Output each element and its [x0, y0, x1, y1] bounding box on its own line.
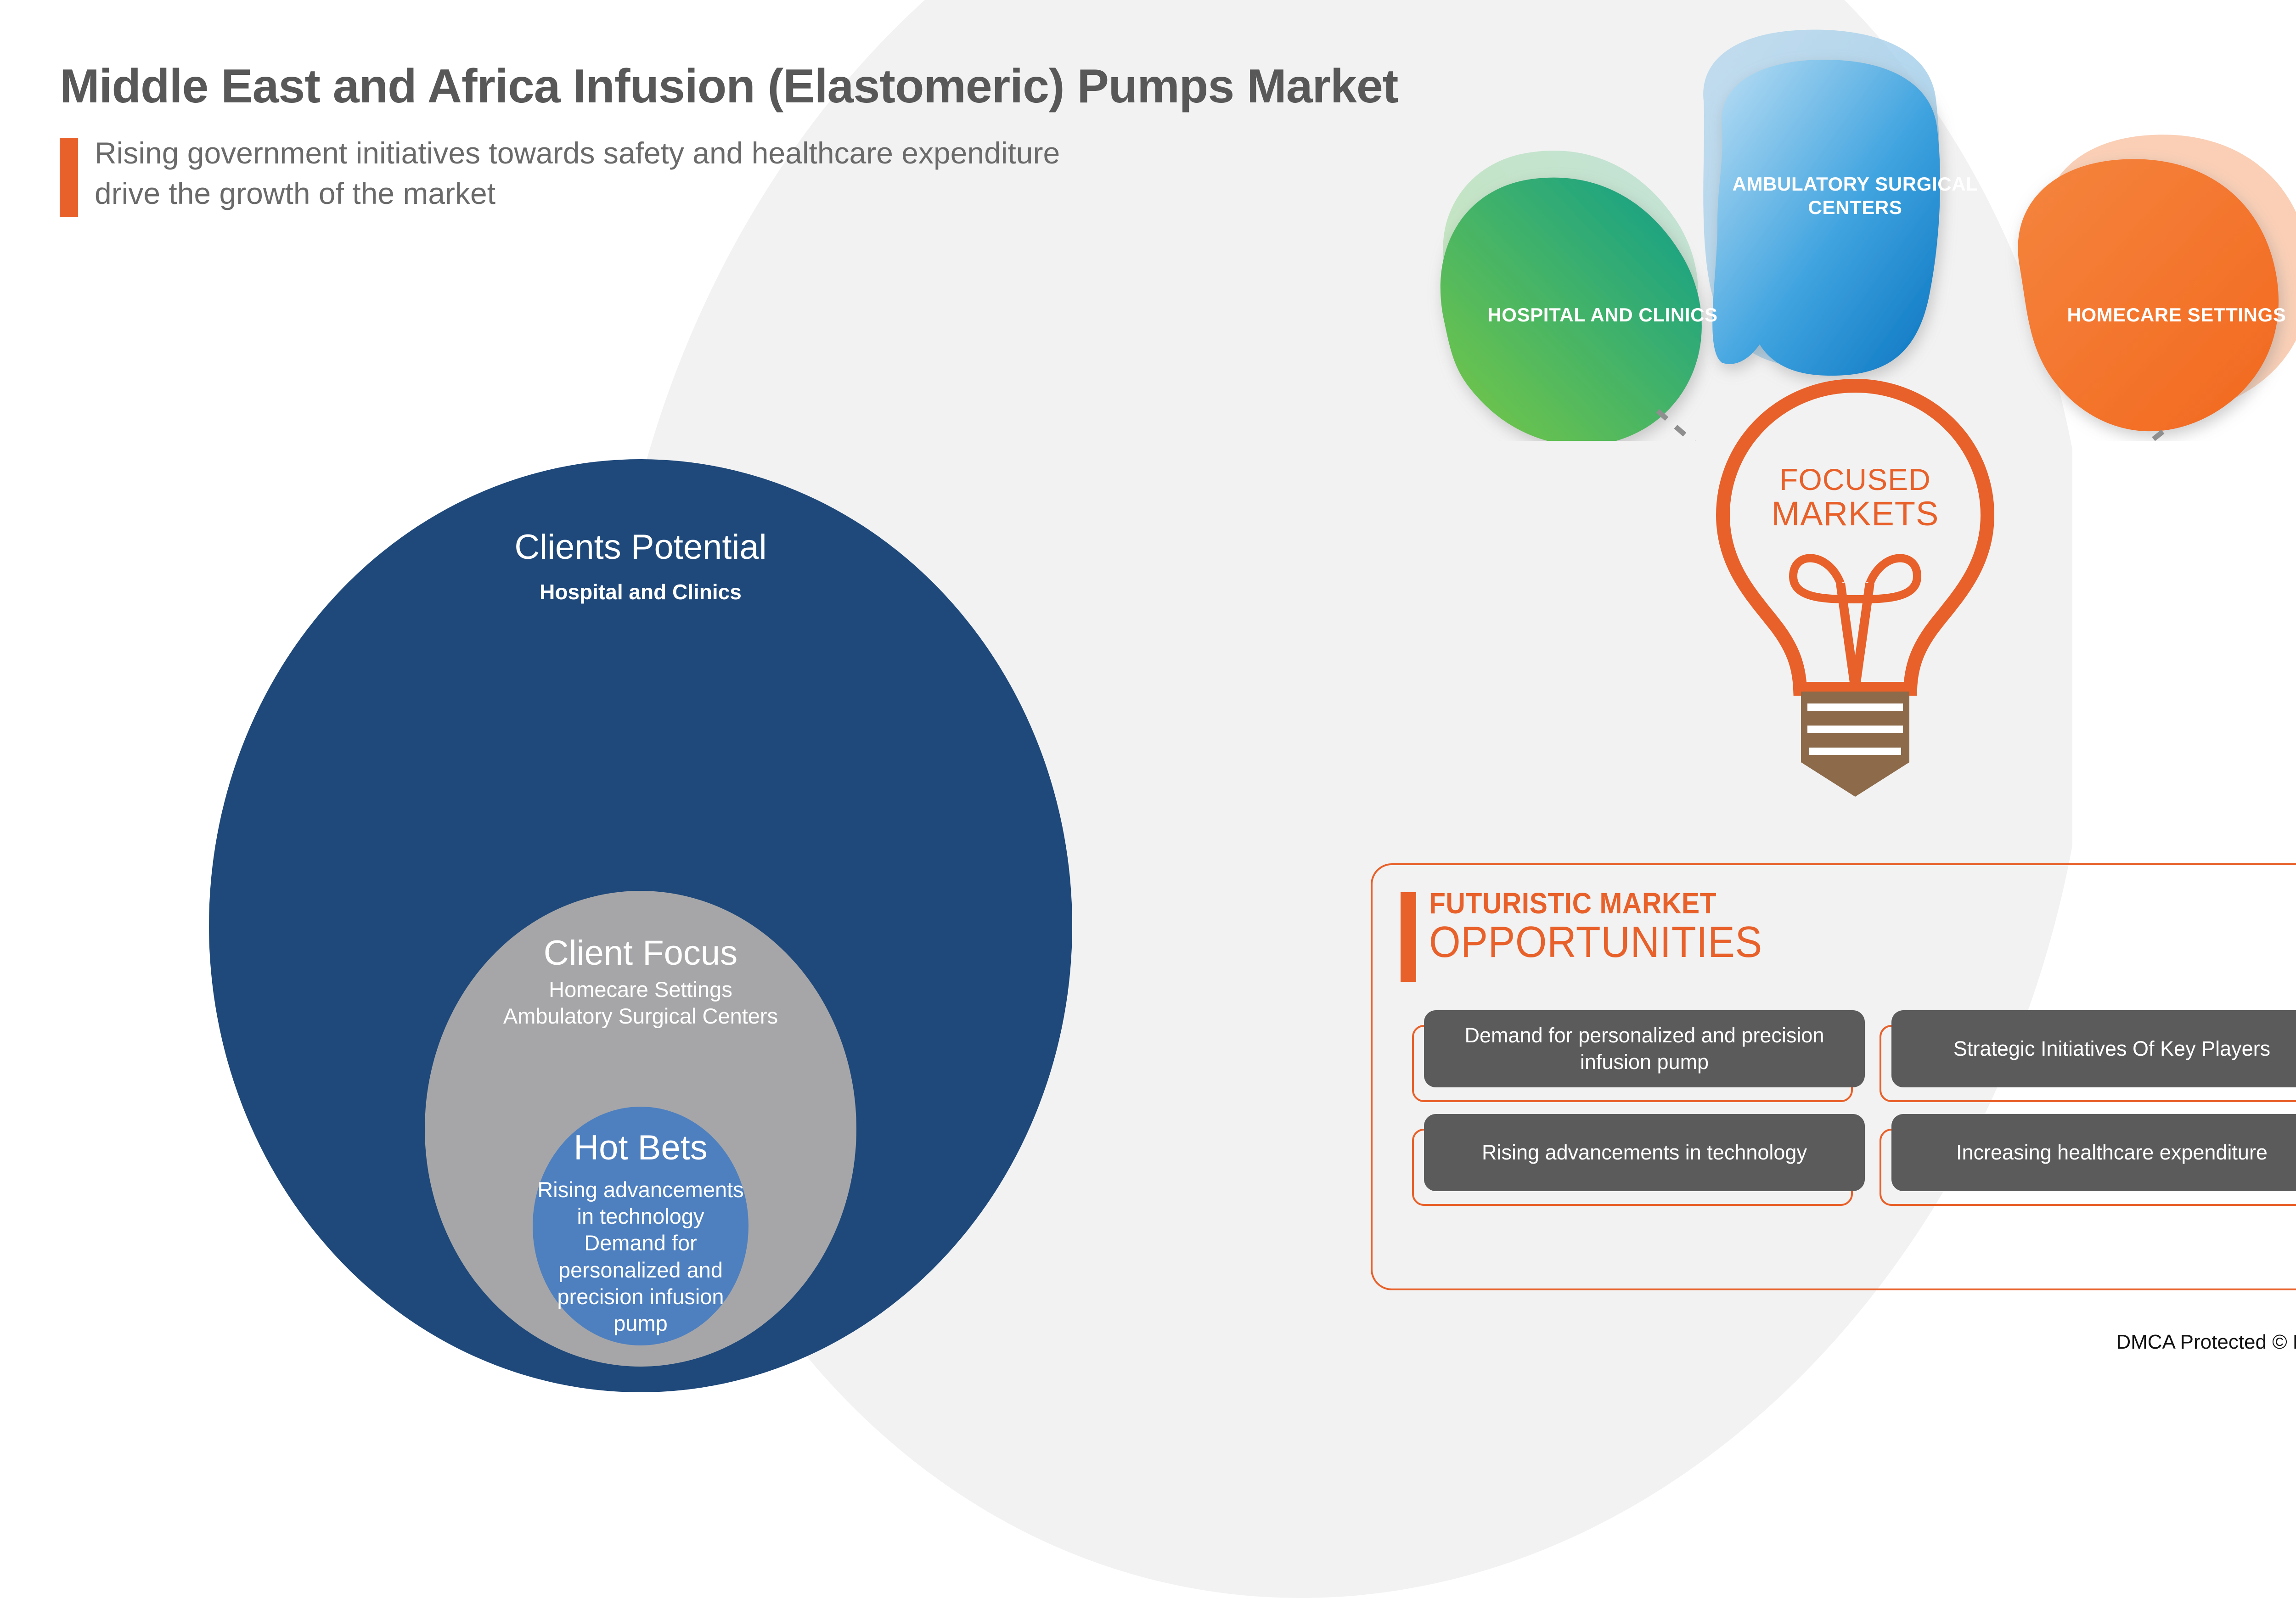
- blob-label-homecare-settings: HOMECARE SETTINGS: [2034, 303, 2296, 326]
- opportunities-grid: Demand for personalized and precision in…: [1412, 1010, 2296, 1206]
- blob-label-hospital-and-clinics: HOSPITAL AND CLINICS: [1460, 303, 1745, 326]
- opportunity-cell: Demand for personalized and precision in…: [1412, 1010, 1863, 1102]
- bulb-label: FOCUSED MARKETS: [1694, 464, 2016, 532]
- opportunities-title-line1: FUTURISTIC MARKET: [1429, 889, 1762, 918]
- concentric-circles-diagram: Clients Potential Hospital and Clinics C…: [209, 459, 1091, 1327]
- circle-mid-sub: Homecare Settings Ambulatory Surgical Ce…: [503, 976, 778, 1030]
- lightbulb-icon: [1694, 367, 2016, 804]
- header: Middle East and Africa Infusion (Elastom…: [60, 60, 1414, 217]
- opportunity-card[interactable]: Demand for personalized and precision in…: [1424, 1010, 1865, 1087]
- opportunities-title-line2: OPPORTUNITIES: [1429, 920, 1762, 965]
- bulb-filament-loops: [1793, 558, 1917, 599]
- connector-right-dashed: [2076, 432, 2163, 441]
- circle-inner-title: Hot Bets: [574, 1130, 707, 1166]
- page-title: Middle East and Africa Infusion (Elastom…: [60, 60, 1414, 113]
- opportunity-card[interactable]: Rising advancements in technology: [1424, 1114, 1865, 1191]
- copyright-footer: DMCA Protected © DataBridge: [2116, 1331, 2296, 1354]
- opportunity-cell: Increasing healthcare expenditure: [1880, 1114, 2296, 1206]
- circle-outer-sub: Hospital and Clinics: [540, 580, 742, 605]
- opportunities-accent-bar: [1401, 892, 1416, 982]
- bulb-label-line1: FOCUSED: [1694, 464, 2016, 496]
- subtitle-text: Rising government initiatives towards sa…: [95, 133, 1105, 213]
- opportunity-card[interactable]: Increasing healthcare expenditure: [1891, 1114, 2296, 1191]
- opportunities-heading: FUTURISTIC MARKET OPPORTUNITIES: [1401, 889, 1791, 982]
- subtitle-block: Rising government initiatives towards sa…: [60, 133, 1414, 217]
- bulb-glass: [1723, 386, 1987, 689]
- opportunities-title: FUTURISTIC MARKET OPPORTUNITIES: [1429, 889, 1791, 965]
- accent-bar: [60, 138, 78, 217]
- opportunity-cell: Strategic Initiatives Of Key Players: [1880, 1010, 2296, 1102]
- circle-inner-sub: Rising advancements in technology Demand…: [533, 1176, 748, 1337]
- circle-outer-title: Clients Potential: [514, 529, 766, 566]
- circle-hot-bets: Hot Bets Rising advancements in technolo…: [533, 1107, 748, 1345]
- blob-label-ambulatory-surgical-centers: AMBULATORY SURGICAL CENTERS: [1708, 172, 2002, 219]
- opportunity-cell: Rising advancements in technology: [1412, 1114, 1863, 1206]
- circle-mid-title: Client Focus: [544, 935, 737, 972]
- bulb-label-line2: MARKETS: [1694, 496, 2016, 532]
- opportunity-card[interactable]: Strategic Initiatives Of Key Players: [1891, 1010, 2296, 1087]
